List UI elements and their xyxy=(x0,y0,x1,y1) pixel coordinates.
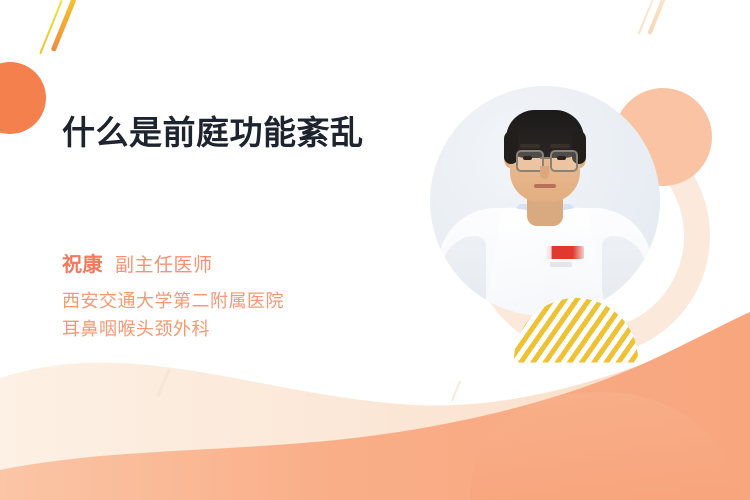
eyebrow-right xyxy=(550,144,570,148)
hospital-badge xyxy=(544,246,584,259)
nose xyxy=(540,166,549,179)
doctor-role: 副主任医师 xyxy=(115,250,213,277)
doctor-identity: 祝康 副主任医师 xyxy=(62,248,213,277)
hospital-badge-subtext xyxy=(550,262,572,267)
doctor-hospital: 西安交通大学第二附属医院 xyxy=(62,288,284,315)
portrait-figure xyxy=(430,86,660,316)
eyeglasses-lens-right xyxy=(550,150,578,172)
eye-right xyxy=(557,156,566,160)
portrait-composition xyxy=(418,68,718,368)
page-title: 什么是前庭功能紊乱 xyxy=(62,113,412,152)
cover-card: 什么是前庭功能紊乱 祝康 副主任医师 西安交通大学第二附属医院 耳鼻咽喉头颈外科 xyxy=(0,0,750,500)
eyebrow-left xyxy=(520,144,540,148)
doctor-portrait xyxy=(430,86,660,316)
doctor-name: 祝康 xyxy=(62,248,103,277)
eyeglasses-bridge xyxy=(540,157,550,159)
mouth xyxy=(534,184,556,188)
doctor-department: 耳鼻咽喉头颈外科 xyxy=(62,316,210,343)
eye-left xyxy=(523,156,532,160)
coat-shadow-left xyxy=(442,236,486,316)
